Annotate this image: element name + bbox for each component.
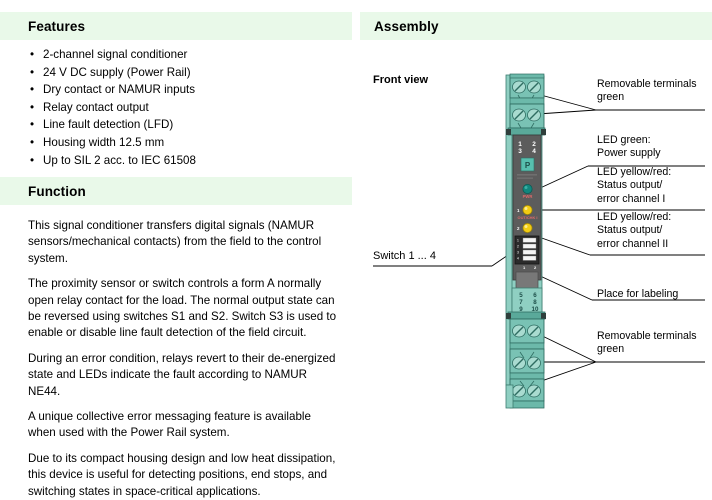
paragraph: A unique collective error messaging feat… (28, 409, 338, 442)
callout-place-for-labeling: Place for labeling (597, 288, 712, 301)
callout-led-channel-2: LED yellow/red: Status output/ error cha… (597, 211, 712, 251)
paragraph: The proximity sensor or switch controls … (28, 276, 338, 342)
callout-line: LED yellow/red: (597, 211, 712, 224)
callout-terminals-top: Removable terminals green (597, 78, 712, 105)
list-item: Up to SIL 2 acc. to IEC 61508 (28, 152, 338, 170)
function-body: This signal conditioner transfers digita… (28, 218, 338, 500)
callout-line: Status output/ (597, 179, 712, 192)
features-header-band: Features (0, 12, 352, 40)
list-item: 2-channel signal conditioner (28, 46, 338, 64)
callout-line: Status output/ (597, 224, 712, 237)
features-title: Features (0, 19, 85, 34)
list-item: Line fault detection (LFD) (28, 116, 338, 134)
callout-line: green (597, 343, 712, 356)
callout-line: Removable terminals (597, 330, 712, 343)
list-item: 24 V DC supply (Power Rail) (28, 64, 338, 82)
callout-terminals-bottom: Removable terminals green (597, 330, 712, 357)
features-list: 2-channel signal conditioner 24 V DC sup… (28, 46, 338, 169)
callout-labels: Removable terminals green LED green: Pow… (360, 0, 712, 456)
function-title: Function (0, 184, 86, 199)
list-item: Housing width 12.5 mm (28, 134, 338, 152)
callout-line: Power supply (597, 147, 712, 160)
paragraph: This signal conditioner transfers digita… (28, 218, 338, 267)
callout-line: error channel I (597, 193, 712, 206)
list-item: Dry contact or NAMUR inputs (28, 81, 338, 99)
callout-line: error channel II (597, 238, 712, 251)
callout-led-green: LED green: Power supply (597, 134, 712, 161)
callout-led-channel-1: LED yellow/red: Status output/ error cha… (597, 166, 712, 206)
function-header-band: Function (0, 177, 352, 205)
callout-line: LED yellow/red: (597, 166, 712, 179)
callout-line: LED green: (597, 134, 712, 147)
paragraph: Due to its compact housing design and lo… (28, 451, 338, 500)
left-column: Features 2-channel signal conditioner 24… (0, 0, 360, 456)
paragraph: During an error condition, relays revert… (28, 351, 338, 400)
callout-line: Place for labeling (597, 288, 712, 301)
list-item: Relay contact output (28, 99, 338, 117)
callout-line: green (597, 91, 712, 104)
datasheet-page: Features 2-channel signal conditioner 24… (0, 0, 712, 456)
right-column: Assembly Front view Switch 1 ... 4 (360, 0, 712, 456)
callout-line: Removable terminals (597, 78, 712, 91)
